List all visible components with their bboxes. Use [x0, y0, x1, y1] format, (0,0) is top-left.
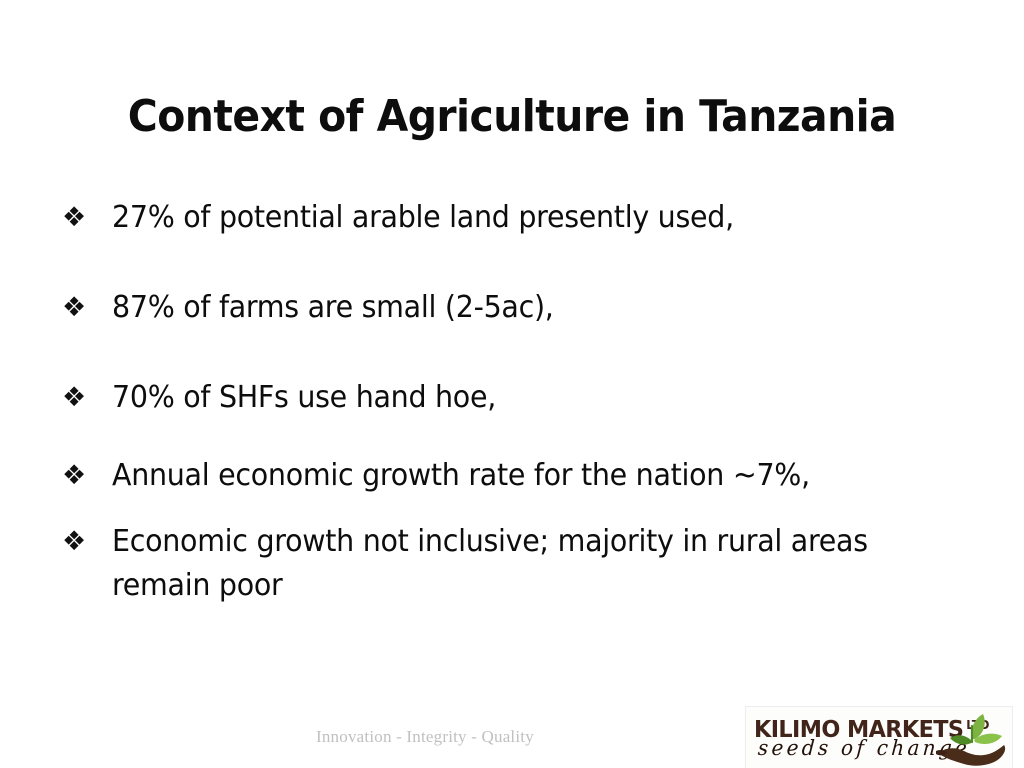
- diamond-bullet-icon: ❖: [62, 196, 112, 240]
- bullet-list: ❖ 27% of potential arable land presently…: [62, 196, 962, 608]
- list-item-label: 87% of farms are small (2-5ac),: [112, 286, 920, 330]
- list-item: ❖ 27% of potential arable land presently…: [62, 196, 962, 240]
- list-item: ❖ Annual economic growth rate for the na…: [62, 454, 962, 498]
- list-item-label: Economic growth not inclusive; majority …: [112, 520, 901, 608]
- slide: Context of Agriculture in Tanzania ❖ 27%…: [0, 0, 1024, 768]
- diamond-bullet-icon: ❖: [62, 454, 112, 498]
- diamond-bullet-icon: ❖: [62, 520, 112, 564]
- list-item: ❖ 87% of farms are small (2-5ac),: [62, 286, 962, 330]
- list-item: ❖ Economic growth not inclusive; majorit…: [62, 520, 962, 608]
- list-item: ❖ 70% of SHFs use hand hoe,: [62, 376, 962, 420]
- company-logo: KILIMO MARKETSLTD seeds of change: [745, 706, 1013, 768]
- hand-seedling-icon: [934, 709, 1010, 767]
- list-item-label: 27% of potential arable land presently u…: [112, 196, 920, 240]
- list-item-label: 70% of SHFs use hand hoe,: [112, 376, 920, 420]
- page-title: Context of Agriculture in Tanzania: [36, 93, 988, 141]
- diamond-bullet-icon: ❖: [62, 286, 112, 330]
- diamond-bullet-icon: ❖: [62, 376, 112, 420]
- logo-inner: KILIMO MARKETSLTD seeds of change: [746, 707, 1012, 768]
- list-item-label: Annual economic growth rate for the nati…: [112, 454, 920, 498]
- footer-tagline: Innovation - Integrity - Quality: [316, 726, 534, 748]
